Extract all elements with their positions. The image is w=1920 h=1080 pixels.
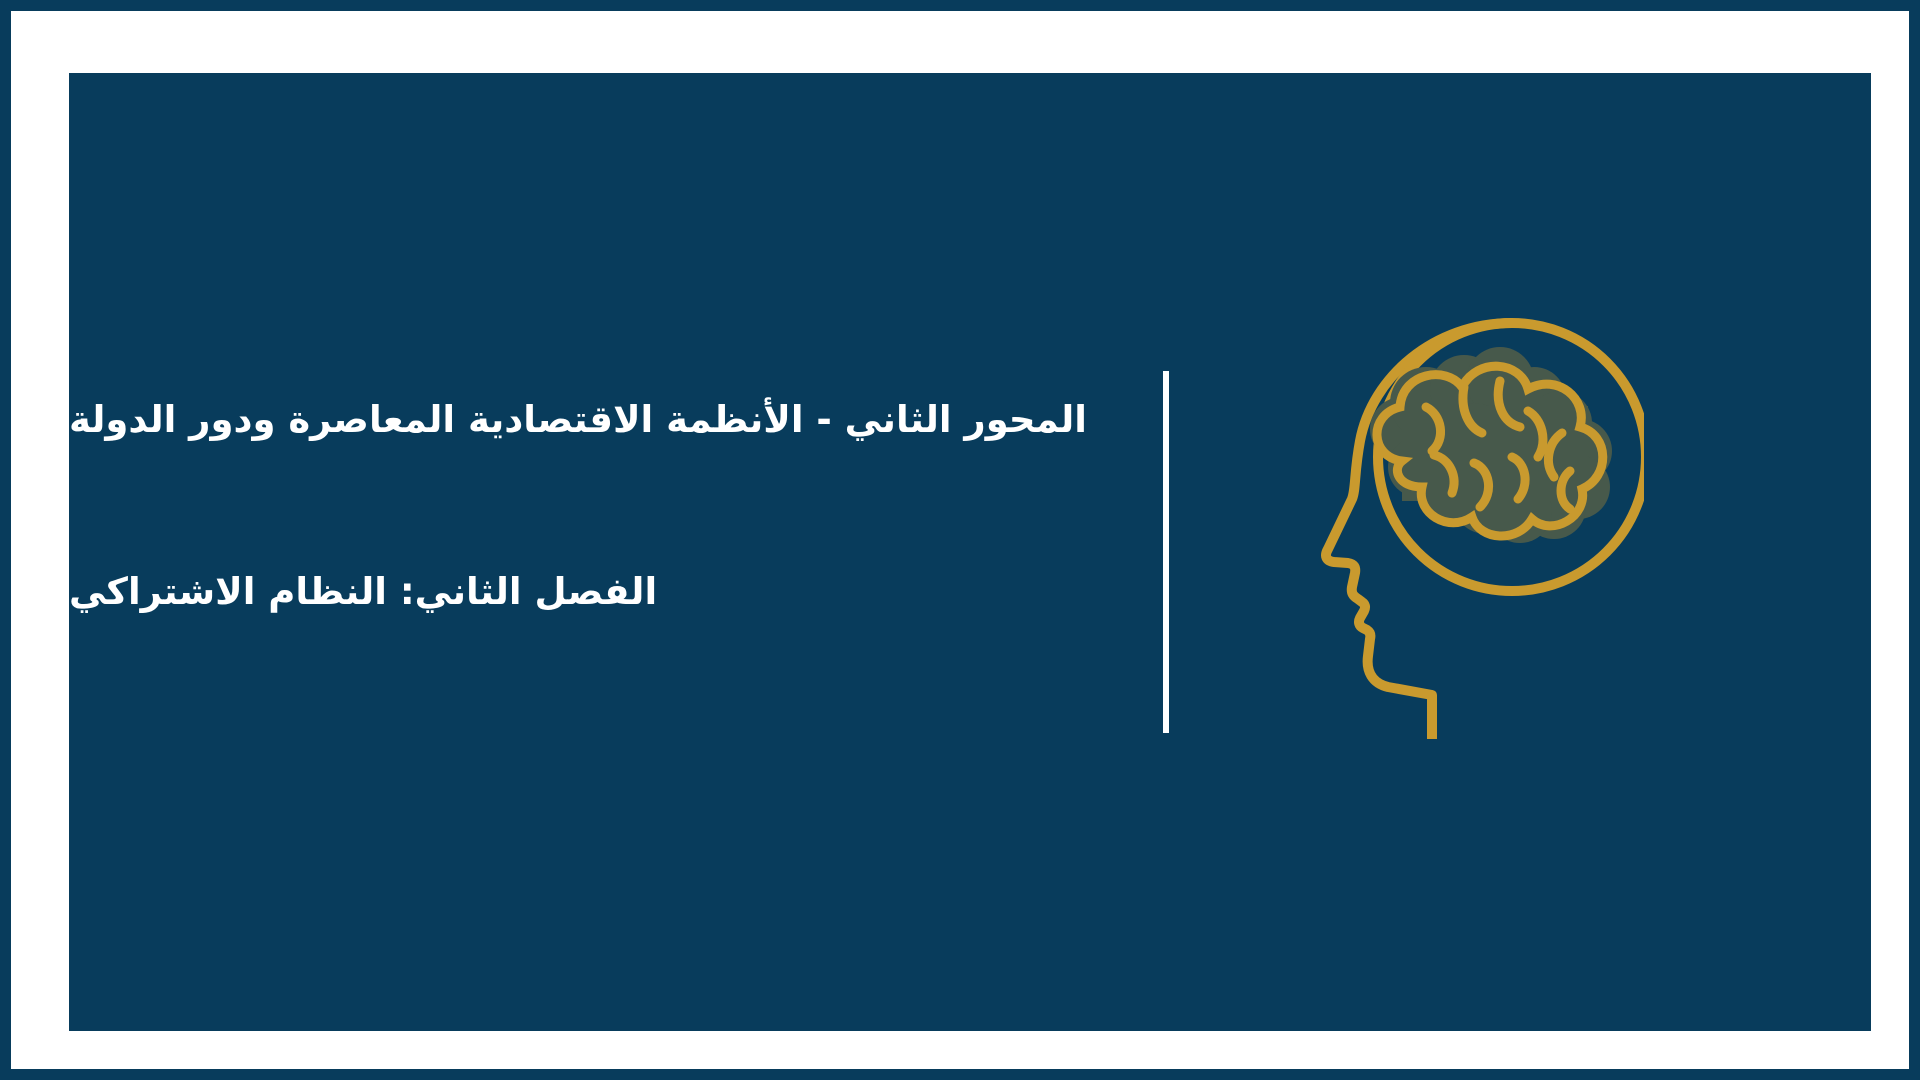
head-brain-icon-svg <box>1314 311 1644 741</box>
chapter-title: الفصل الثاني: النظام الاشتراكي <box>69 567 1141 617</box>
slide-content-panel: المحور الثاني - الأنظمة الاقتصادية المعا… <box>69 73 1871 1031</box>
brain-cluster <box>1370 347 1612 543</box>
head-brain-icon <box>1314 311 1644 741</box>
axis-title: المحور الثاني - الأنظمة الاقتصادية المعا… <box>69 395 1141 445</box>
slide-white-mat: المحور الثاني - الأنظمة الاقتصادية المعا… <box>11 11 1909 1069</box>
slide-outer-frame: المحور الثاني - الأنظمة الاقتصادية المعا… <box>0 0 1920 1080</box>
vertical-divider <box>1163 371 1169 733</box>
